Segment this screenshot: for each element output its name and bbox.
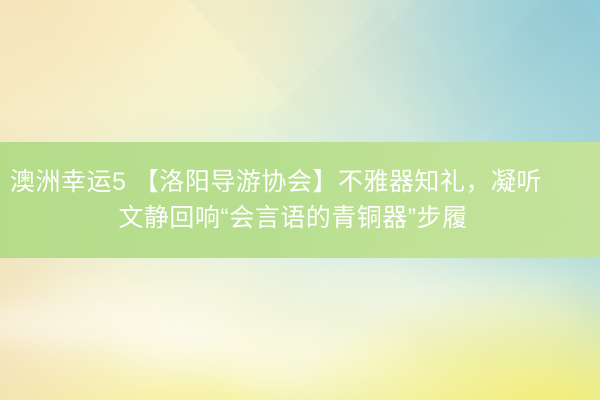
banner-title-line-1: 澳洲幸运5 【洛阳导游协会】不雅器知礼，凝听 <box>0 164 600 200</box>
cloud-wisp <box>40 272 240 302</box>
cloud-wisp <box>420 316 600 344</box>
cloud-wisp <box>230 348 570 400</box>
banner-title-line-2: 文静回响“会言语的青铜器”步履 <box>0 200 600 236</box>
title-band: 澳洲幸运5 【洛阳导游协会】不雅器知礼，凝听 文静回响“会言语的青铜器”步履 <box>0 142 600 258</box>
cloud-wisp <box>360 292 580 328</box>
cloud-wisp <box>120 330 420 370</box>
article-header-banner: 澳洲幸运5 【洛阳导游协会】不雅器知礼，凝听 文静回响“会言语的青铜器”步履 <box>0 0 600 400</box>
cloud-wisp <box>0 300 230 346</box>
cloud-wisp <box>300 268 580 302</box>
